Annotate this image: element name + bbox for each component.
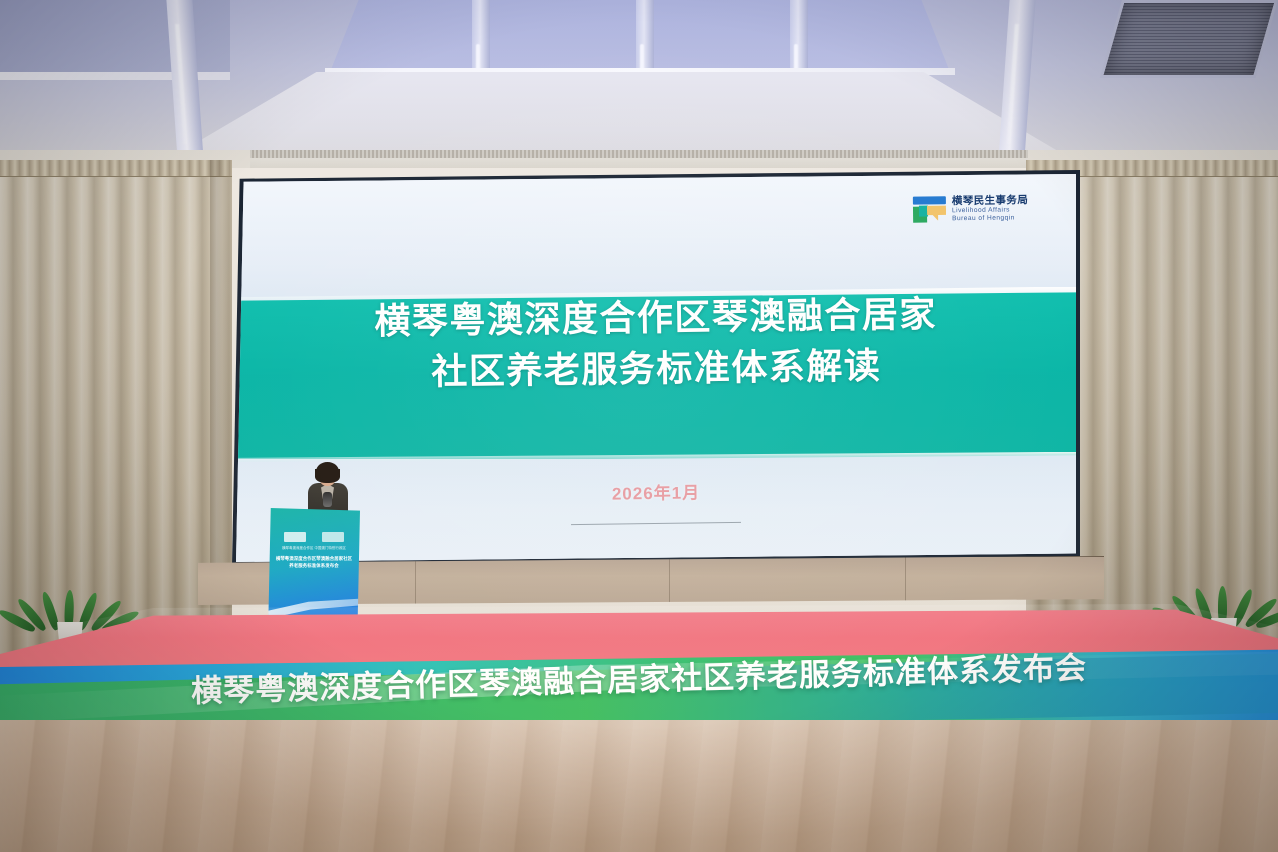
hengqin-bureau-logo-icon (911, 197, 947, 223)
microphone-icon (323, 492, 332, 507)
conference-hall-photo: 横琴民生事务局 Livelihood Affairs Bureau of Hen… (0, 0, 1278, 852)
led-screen: 横琴民生事务局 Livelihood Affairs Bureau of Hen… (236, 174, 1076, 562)
podium-subtitle-line2: 养老服务标准体系发布会 (272, 563, 356, 570)
ceiling-air-vent-grille (1100, 0, 1278, 78)
logo-text-en-line1: Livelihood Affairs (952, 207, 1028, 215)
screen-title: 横琴粤澳深度合作区琴澳融合居家 社区养老服务标准体系解读 (236, 287, 1076, 400)
podium-caption: 横琴粤澳深度合作区 中国澳门特别行政区 (272, 546, 356, 551)
logo-text-en-line2: Bureau of Hengqin (952, 215, 1028, 223)
hall-floor (0, 720, 1278, 852)
speaker-presenter (303, 462, 353, 516)
bureau-logo: 横琴民生事务局 Livelihood Affairs Bureau of Hen… (911, 195, 1029, 223)
curtain-valance (0, 160, 232, 177)
podium-logos (276, 532, 352, 542)
floor-light-glow (0, 720, 1278, 852)
screen-top-band (236, 174, 1076, 302)
podium-subtitle: 横琴粤澳深度合作区琴澳融合居家社区 养老服务标准体系发布会 (272, 556, 356, 570)
ceiling-beam (472, 0, 490, 76)
speaker-hair (316, 462, 339, 481)
ceiling-beam (636, 0, 654, 76)
podium-logo-left (284, 532, 306, 542)
led-screen-frame: 横琴民生事务局 Livelihood Affairs Bureau of Hen… (232, 170, 1080, 566)
screen-bottom-band (236, 455, 1076, 562)
podium-subtitle-line1: 横琴粤澳深度合作区琴澳融合居家社区 (272, 556, 356, 563)
ceiling-beam (790, 0, 808, 76)
podium-logo-right (322, 532, 344, 542)
logo-text-cn: 横琴民生事务局 (952, 195, 1028, 206)
ceiling (0, 0, 1278, 162)
